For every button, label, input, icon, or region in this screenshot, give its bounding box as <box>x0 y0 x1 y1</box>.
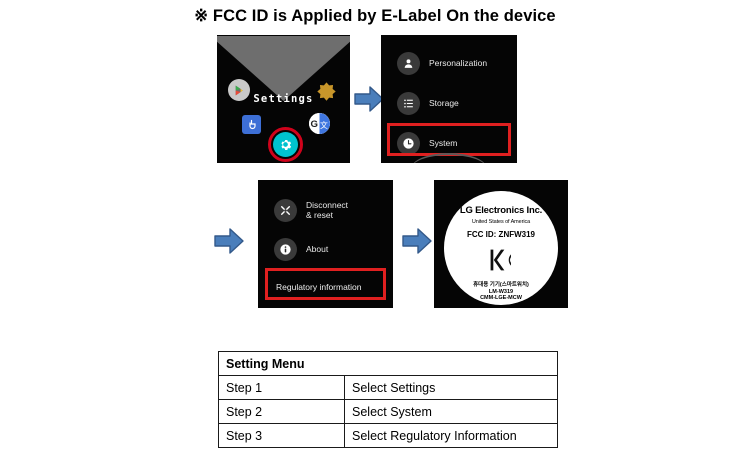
info-icon <box>274 238 297 261</box>
page-root: ※ FCC ID is Applied by E-Label On the de… <box>0 0 750 453</box>
system-item-disconnect-reset[interactable]: Disconnect & reset <box>258 194 393 226</box>
step-label: Step 2 <box>219 400 345 424</box>
elabel-brand: LG Electronics Inc. <box>444 205 558 216</box>
list-icon <box>397 92 420 115</box>
elabel-face: LG Electronics Inc. United States of Ame… <box>444 191 558 305</box>
settings-gear-icon[interactable] <box>273 132 298 157</box>
settings-item-label: Personalization <box>429 58 487 68</box>
person-icon <box>397 52 420 75</box>
elabel-fcc-id: FCC ID: ZNFW319 <box>444 230 558 239</box>
step-action: Select System <box>345 400 558 424</box>
svg-text:G: G <box>311 119 318 130</box>
google-translate-icon[interactable]: G 文 <box>309 113 330 134</box>
system-highlight-box <box>387 123 511 156</box>
system-item-label: Disconnect & reset <box>306 200 348 220</box>
watch-screen-system-menu: Disconnect & reset About Regulatory info… <box>258 180 393 308</box>
system-item-label: About <box>306 244 328 254</box>
step-label: Step 1 <box>219 376 345 400</box>
step-label: Step 3 <box>219 424 345 448</box>
elabel-cert-id: CMM-LGE-MCW <box>444 295 558 301</box>
play-store-icon[interactable] <box>228 79 250 101</box>
table-header-label: Setting Menu <box>219 352 558 376</box>
watch-screen-settings-menu: Personalization Storage <box>381 35 517 163</box>
watch-screen-regulatory-label: LG Electronics Inc. United States of Ame… <box>434 180 568 308</box>
table-row: Step 1 Select Settings <box>219 376 558 400</box>
svg-text:文: 文 <box>320 120 328 130</box>
table-header-row: Setting Menu <box>219 352 558 376</box>
system-item-about[interactable]: About <box>258 233 393 265</box>
page-title: ※ FCC ID is Applied by E-Label On the de… <box>0 6 750 26</box>
settings-item-label: Storage <box>429 98 459 108</box>
setting-menu-steps-table: Setting Menu Step 1 Select Settings Step… <box>218 351 558 448</box>
elabel-country: United States of America <box>444 219 558 225</box>
touch-icon[interactable] <box>242 115 261 134</box>
kc-logo-icon <box>444 247 558 273</box>
arrow-settings-to-system <box>213 226 245 256</box>
arrow-system-to-elabel <box>401 226 433 256</box>
step-action: Select Regulatory Information <box>345 424 558 448</box>
badge-icon[interactable] <box>316 81 337 102</box>
watch-screen-app-drawer: Settings G <box>217 35 350 163</box>
step-action: Select Settings <box>345 376 558 400</box>
regulatory-highlight-box <box>265 268 386 300</box>
table-row: Step 2 Select System <box>219 400 558 424</box>
table-row: Step 3 Select Regulatory Information <box>219 424 558 448</box>
settings-item-personalization[interactable]: Personalization <box>381 47 517 79</box>
elabel-korean-text: 휴대용 기기(스마트워치) <box>444 280 558 288</box>
disconnect-icon <box>274 199 297 222</box>
settings-item-storage[interactable]: Storage <box>381 87 517 119</box>
